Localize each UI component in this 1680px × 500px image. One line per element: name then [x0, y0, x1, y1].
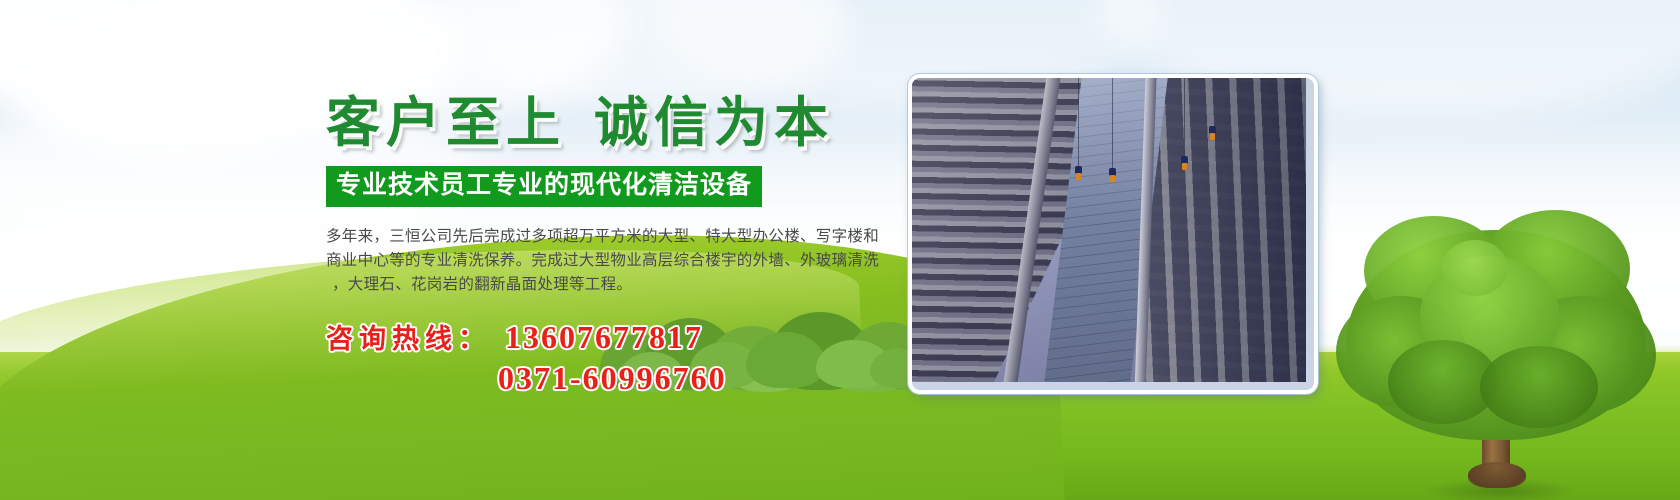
- headline-part-2: 诚信为本: [594, 93, 834, 153]
- paragraph-line: 多年来，三恒公司先后完成过多项超万平方米的大型、特大型办公楼、写字楼和: [326, 225, 886, 249]
- hotline-secondary: 0371-60996760: [326, 360, 906, 397]
- description-paragraph: 多年来，三恒公司先后完成过多项超万平方米的大型、特大型办公楼、写字楼和 商业中心…: [326, 225, 886, 297]
- tree-trunk-flare: [1468, 462, 1526, 488]
- hotline-label: 咨询热线：: [326, 324, 491, 354]
- subtitle-badge: 专业技术员工专业的现代化清洁设备: [326, 166, 762, 207]
- banner-copy: 客户至上诚信为本 专业技术员工专业的现代化清洁设备 多年来，三恒公司先后完成过多…: [326, 96, 906, 397]
- headline-part-1: 客户至上: [326, 93, 566, 153]
- hotline-primary: 咨询热线：13607677817: [326, 317, 906, 356]
- foreground-tree: [1330, 200, 1660, 500]
- paragraph-line: 商业中心等的专业清洗保养。完成过大型物业高层综合楼宇的外墙、外玻璃清洗: [326, 249, 886, 273]
- building-photo-frame[interactable]: [908, 74, 1318, 394]
- hotline-mobile-number[interactable]: 13607677817: [505, 319, 703, 355]
- paragraph-line: ，大理石、花岗岩的翻新晶面处理等工程。: [326, 273, 886, 297]
- building-photo: [912, 78, 1306, 382]
- hotline-landline-number[interactable]: 0371-60996760: [498, 360, 727, 396]
- photo-gloss: [912, 78, 1306, 382]
- hero-banner: 客户至上诚信为本 专业技术员工专业的现代化清洁设备 多年来，三恒公司先后完成过多…: [0, 0, 1680, 500]
- page-title: 客户至上诚信为本: [326, 96, 906, 150]
